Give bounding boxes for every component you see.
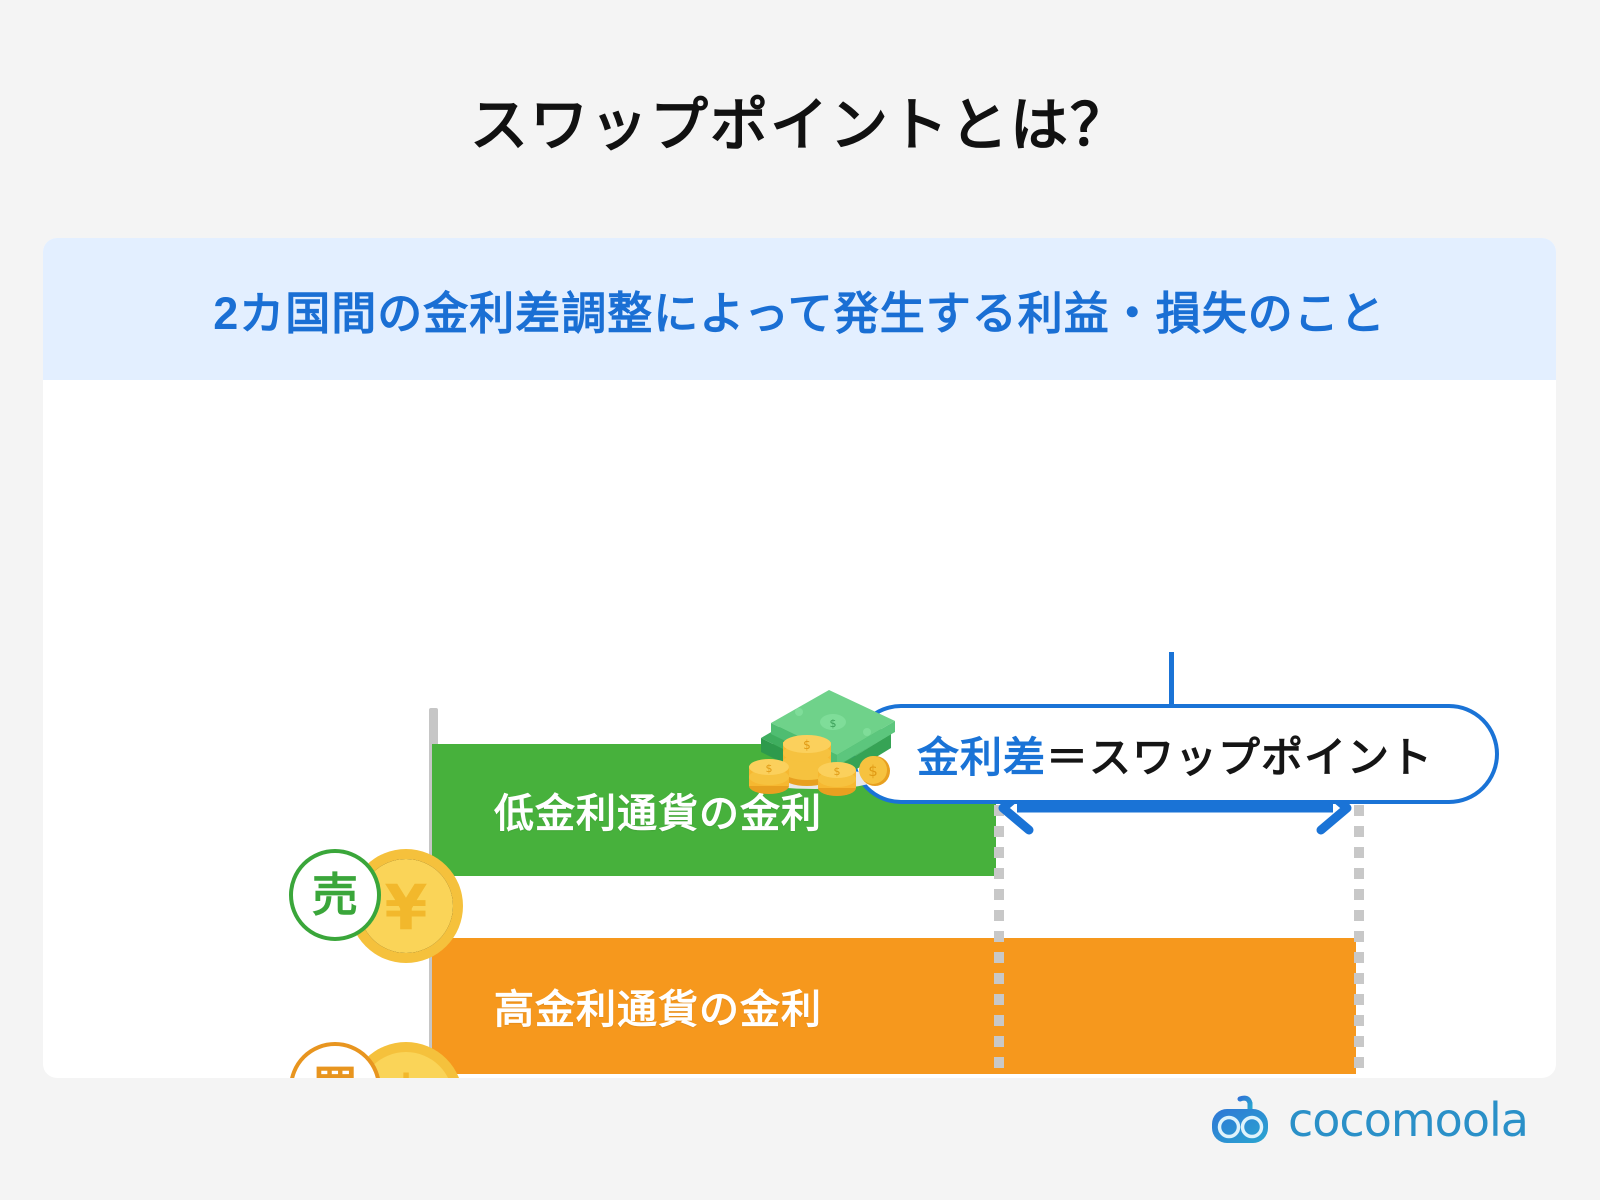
definition-banner: 2カ国間の金利差調整によって発生する利益・損失のこと xyxy=(43,238,1556,380)
callout-accent-text: 金利差 xyxy=(917,734,1046,781)
svg-text:$: $ xyxy=(868,762,878,780)
svg-text:$: $ xyxy=(382,1062,429,1078)
badge-buy: $ 買 xyxy=(289,1036,459,1078)
callout-bubble: 金利差＝スワップポイント xyxy=(851,704,1499,804)
callout-bubble-text: 金利差＝スワップポイント xyxy=(917,724,1433,785)
badge-sell: ¥ 売 xyxy=(289,843,459,975)
svg-text:$: $ xyxy=(830,717,837,730)
bar-high-interest-currency: 高金利通貨の金利 xyxy=(432,938,1356,1074)
brand-logo[interactable]: cocomoola xyxy=(1210,1095,1528,1145)
sell-tag: 売 xyxy=(289,849,381,941)
infographic-canvas: スワップポイントとは？ 2カ国間の金利差調整によって発生する利益・損失のこと 低… xyxy=(0,0,1600,1200)
callout-plain-text: ＝スワップポイント xyxy=(1046,734,1433,781)
svg-text:¥: ¥ xyxy=(384,871,427,944)
bar-high-interest-label: 高金利通貨の金利 xyxy=(494,977,822,1035)
svg-text:$: $ xyxy=(803,738,811,752)
svg-text:$: $ xyxy=(766,762,773,775)
definition-banner-text: 2カ国間の金利差調整によって発生する利益・損失のこと xyxy=(213,277,1385,342)
robot-face-icon xyxy=(1210,1095,1274,1145)
content-card: 2カ国間の金利差調整によって発生する利益・損失のこと 低金利通貨の金利 高金利通… xyxy=(43,238,1556,1078)
brand-logo-text: cocomoola xyxy=(1288,1097,1528,1143)
page-title: スワップポイントとは？ xyxy=(0,78,1600,162)
money-stack-icon: $ $ xyxy=(745,676,900,800)
svg-text:$: $ xyxy=(834,765,841,778)
